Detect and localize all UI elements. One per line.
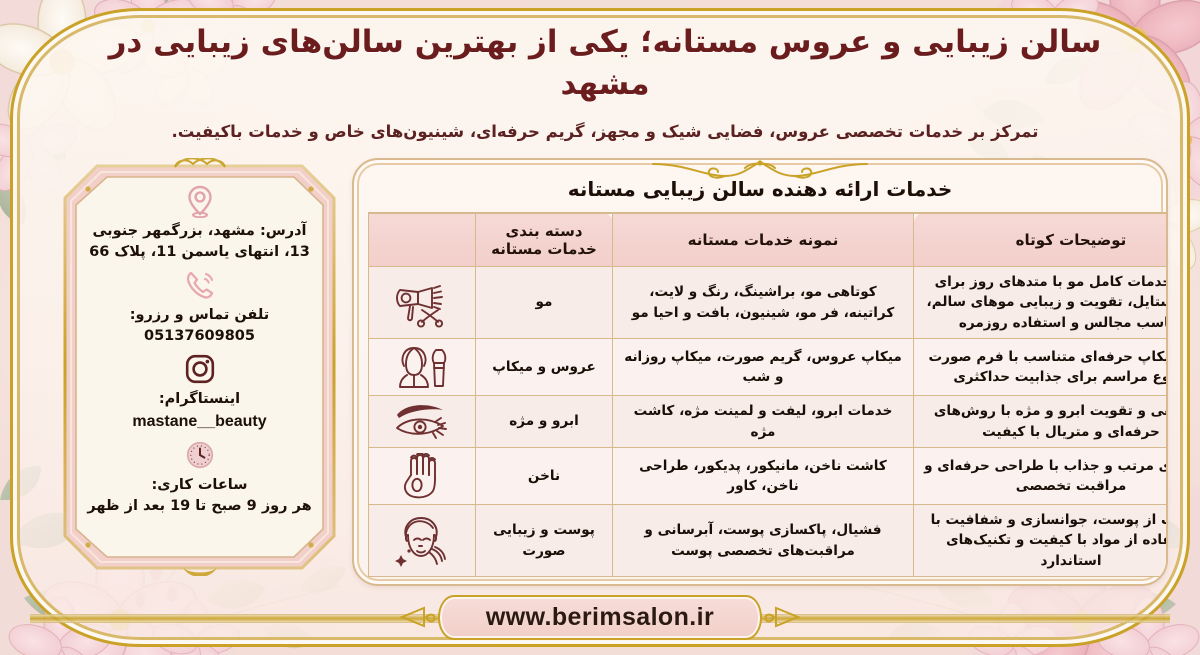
cell-category: پوست و زیبایی صورت (476, 504, 613, 576)
column-header-examples: نمونه خدمات مستانه (613, 213, 914, 267)
services-table-head: توضیحات کوتاه نمونه خدمات مستانه دسته بن… (369, 213, 1169, 267)
hours-value: هر روز 9 صبح تا 19 بعد از ظهر (83, 496, 316, 517)
footer-flourish-right-icon (762, 602, 802, 632)
bride-makeup-brush-icon (378, 344, 466, 390)
contact-item-instagram[interactable]: اینستاگرام: mastane__beauty (77, 352, 322, 433)
cell-examples: کاشت ناخن، مانیکور، پدیکور، طراحی ناخن، … (613, 447, 914, 504)
instagram-icon[interactable] (77, 352, 322, 386)
column-header-category: دسته بندی خدمات مستانه (476, 213, 613, 267)
cell-description: ناخن‌های مرتب و جذاب با طراحی حرفه‌ای و … (914, 447, 1169, 504)
hand-nails-icon (378, 453, 466, 499)
contact-item-address: آدرس: مشهد، بزرگمهر جنوبی 13، انتهای یاس… (77, 184, 322, 263)
cell-description: فرم‌دهی و تقویت ابرو و مژه با روش‌های حر… (914, 396, 1169, 448)
cell-icon (369, 447, 476, 504)
page-subtitle: تمرکز بر خدمات تخصصی عروس، فضایی شیک و م… (60, 120, 1150, 145)
footer-bar: www.berimsalon.ir (0, 592, 1200, 642)
table-header-row: توضیحات کوتاه نمونه خدمات مستانه دسته بن… (369, 213, 1169, 267)
cell-category: ناخن (476, 447, 613, 504)
address-value: 13، انتهای یاسمن 11، پلاک 66 (83, 242, 316, 263)
services-panel: خدمات ارائه دهنده سالن زیبایی مستانه توض… (352, 158, 1168, 586)
poster-stage: سالن زیبایی و عروس مستانه؛ یکی از بهترین… (0, 0, 1200, 655)
column-header-description: توضیحات کوتاه (914, 213, 1169, 267)
cell-examples: فشیال، پاکسازی پوست، آبرسانی و مراقبت‌ها… (613, 504, 914, 576)
phone-label: تلفن تماس و رزرو: (130, 307, 269, 323)
clock-icon (77, 438, 322, 472)
cell-description: مراقبت از پوست، جوانسازی و شفافیت با است… (914, 504, 1169, 576)
website-badge[interactable]: www.berimsalon.ir (438, 595, 762, 640)
instagram-handle[interactable]: mastane__beauty (83, 410, 316, 433)
cell-icon (369, 396, 476, 448)
contact-item-phone[interactable]: تلفن تماس و رزرو: 05137609805 (77, 268, 322, 347)
instagram-label: اینستاگرام: (159, 391, 240, 407)
cell-icon (369, 504, 476, 576)
hairdryer-scissors-icon (378, 278, 466, 328)
phone-value[interactable]: 05137609805 (83, 326, 316, 347)
eye-eyebrow-icon (378, 402, 466, 442)
phone-icon (77, 268, 322, 302)
contact-item-hours: ساعات کاری: هر روز 9 صبح تا 19 بعد از ظه… (77, 438, 322, 517)
table-row: ارائه خدمات کامل مو با متدهای روز برای ت… (369, 267, 1169, 339)
address-label: آدرس: مشهد، بزرگمهر جنوبی (92, 223, 306, 239)
services-table: توضیحات کوتاه نمونه خدمات مستانه دسته بن… (368, 212, 1168, 577)
location-pin-icon (77, 184, 322, 218)
table-row: مراقبت از پوست، جوانسازی و شفافیت با است… (369, 504, 1169, 576)
table-row: ارائه میکاپ حرفه‌ای متناسب با فرم صورت و… (369, 339, 1169, 396)
cell-examples: میکاپ عروس، گریم صورت، میکاپ روزانه و شب (613, 339, 914, 396)
table-row: ناخن‌های مرتب و جذاب با طراحی حرفه‌ای و … (369, 447, 1169, 504)
cell-description: ارائه خدمات کامل مو با متدهای روز برای ت… (914, 267, 1169, 339)
facial-skincare-icon (378, 515, 466, 567)
page-title: سالن زیبایی و عروس مستانه؛ یکی از بهترین… (60, 22, 1150, 106)
footer-flourish-left-icon (398, 602, 438, 632)
cell-category: مو (476, 267, 613, 339)
column-header-icon (369, 213, 476, 267)
website-url[interactable]: www.berimsalon.ir (486, 603, 714, 632)
cell-examples: کوتاهی مو، براشینگ، رنگ و لایت، کراتینه،… (613, 267, 914, 339)
table-row: فرم‌دهی و تقویت ابرو و مژه با روش‌های حر… (369, 396, 1169, 448)
hours-label: ساعات کاری: (152, 477, 248, 493)
services-table-body: ارائه خدمات کامل مو با متدهای روز برای ت… (369, 267, 1169, 577)
cell-category: عروس و میکاپ (476, 339, 613, 396)
cell-icon (369, 267, 476, 339)
cell-category: ابرو و مژه (476, 396, 613, 448)
contact-sidebar: آدرس: مشهد، بزرگمهر جنوبی 13، انتهای یاس… (57, 158, 342, 576)
cell-description: ارائه میکاپ حرفه‌ای متناسب با فرم صورت و… (914, 339, 1169, 396)
poster-header: سالن زیبایی و عروس مستانه؛ یکی از بهترین… (60, 22, 1150, 144)
cell-icon (369, 339, 476, 396)
panel-title: خدمات ارائه دهنده سالن زیبایی مستانه (354, 177, 1166, 201)
cell-examples: خدمات ابرو، لیفت و لمینت مژه، کاشت مژه (613, 396, 914, 448)
